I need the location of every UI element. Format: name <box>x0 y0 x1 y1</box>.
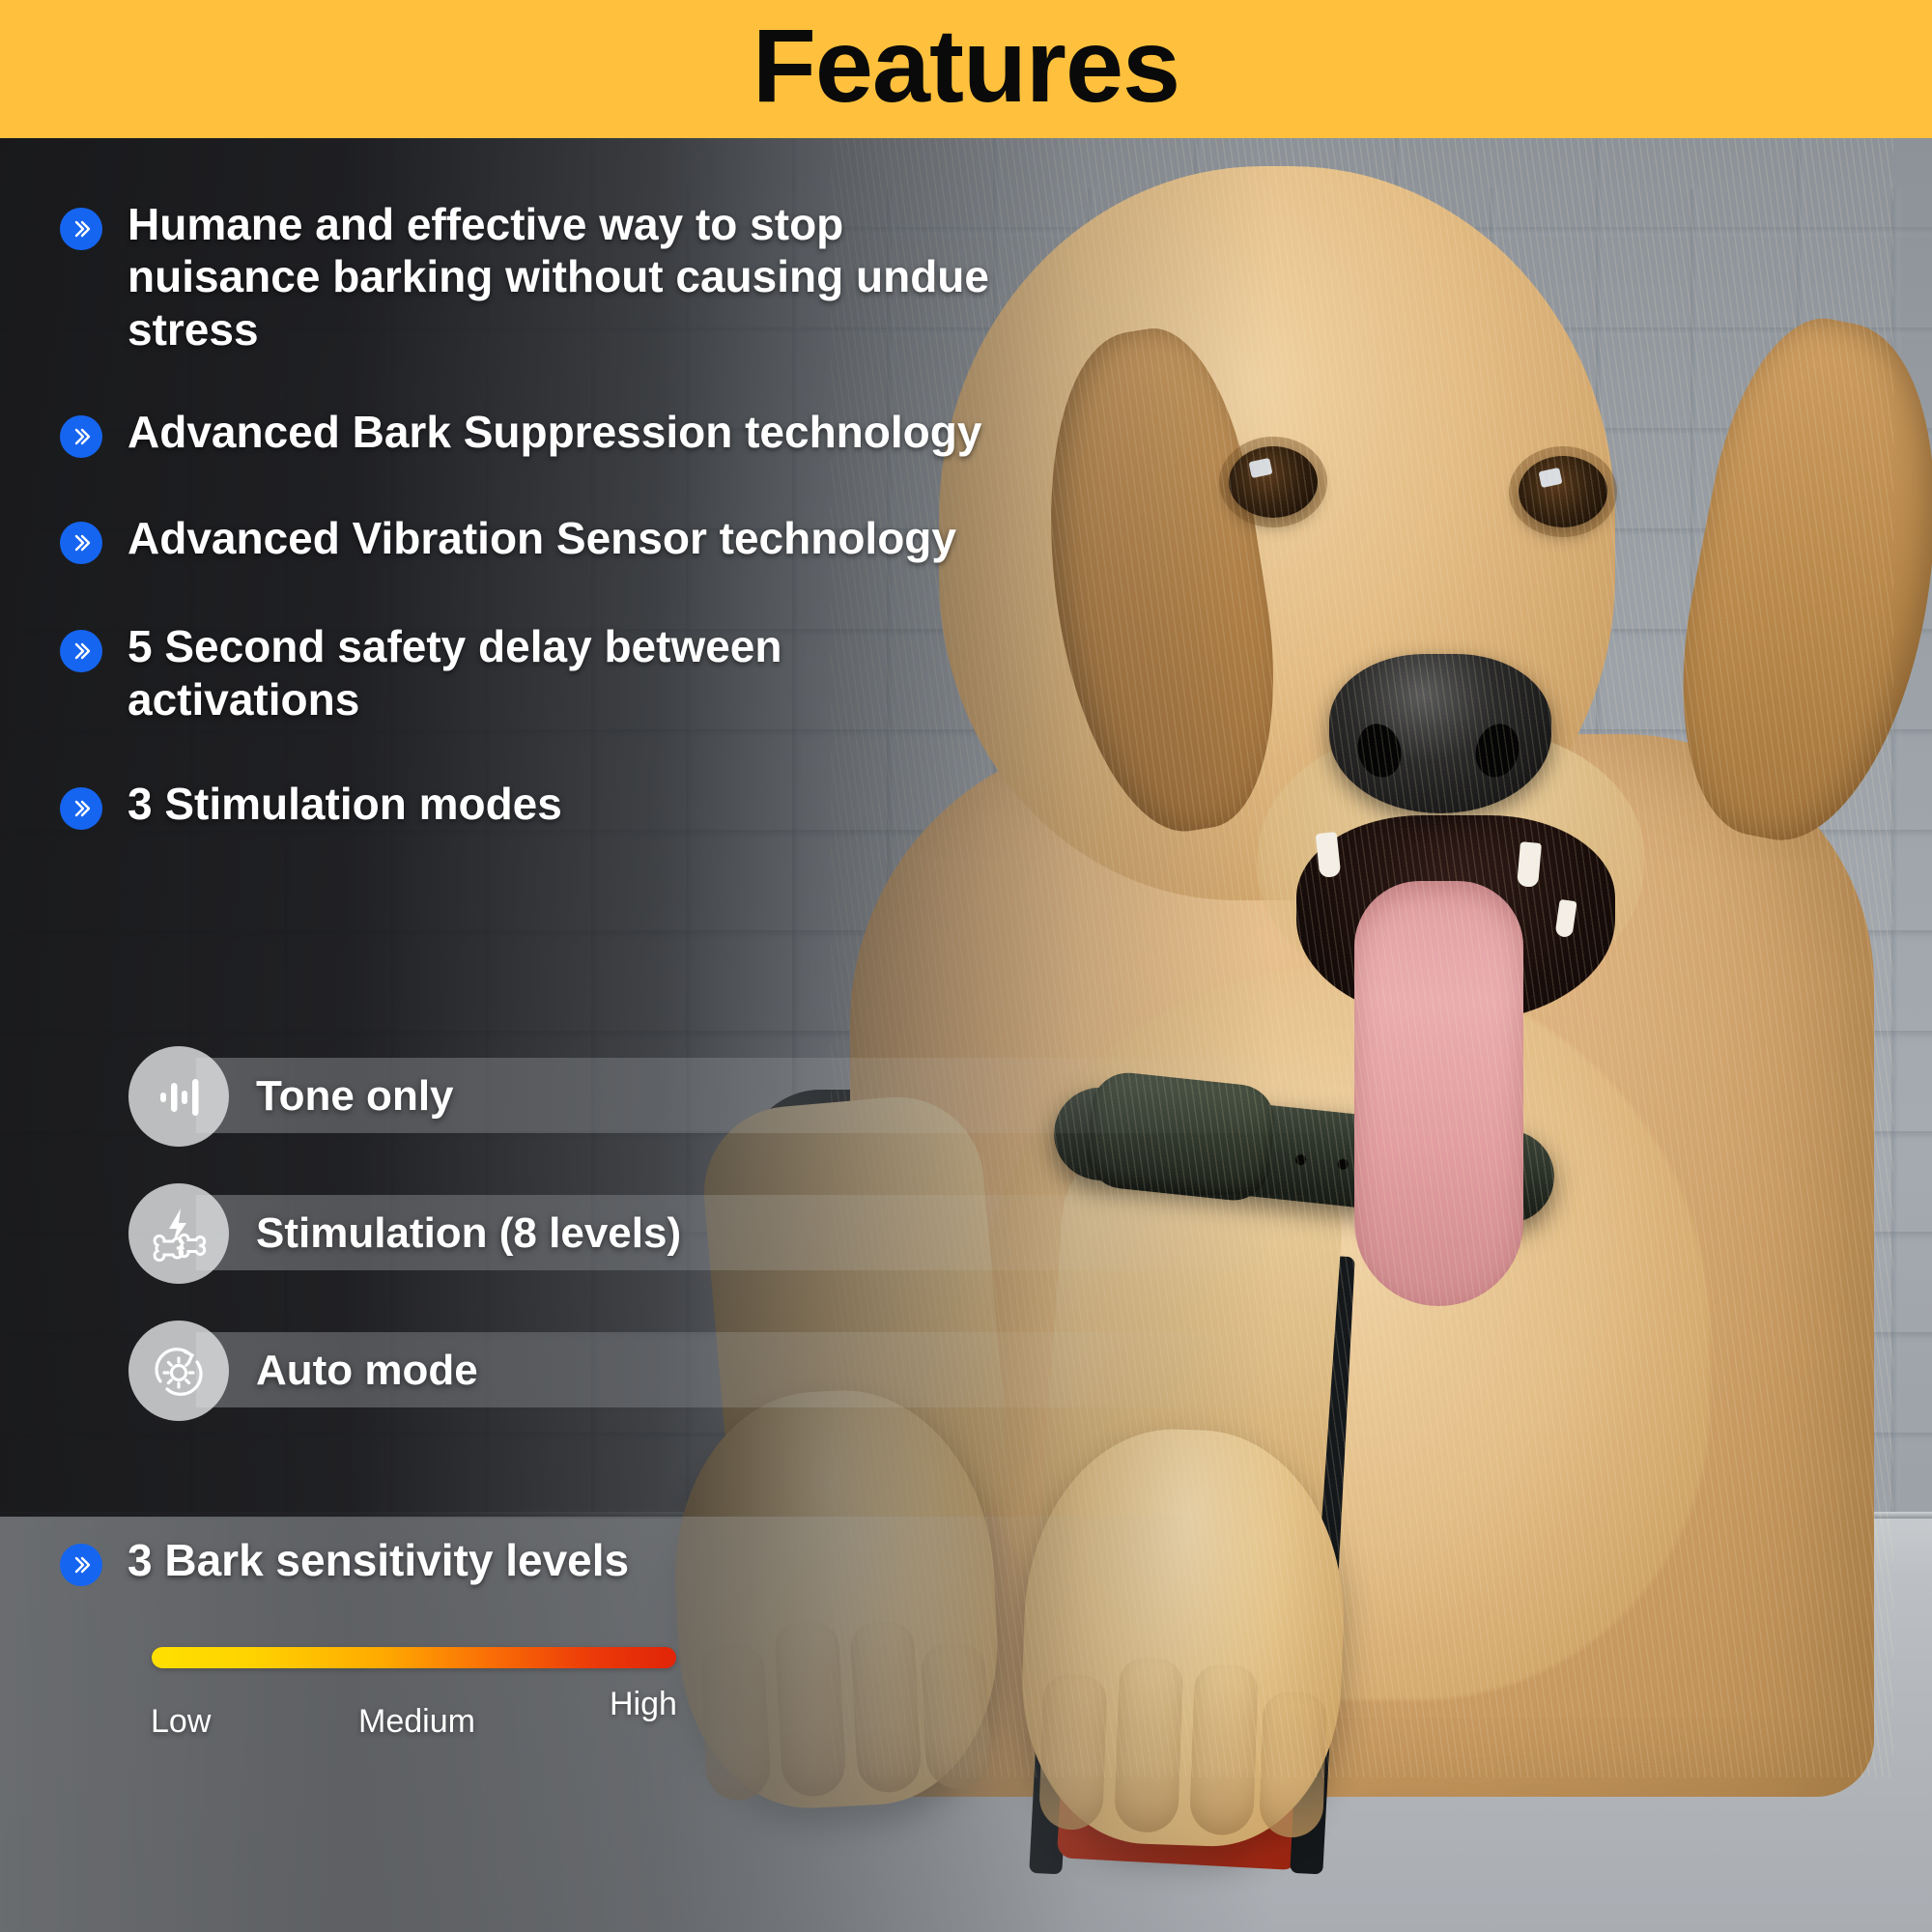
feature-text: 5 Second safety delay between activation… <box>128 620 1026 725</box>
mode-label: Auto mode <box>256 1350 478 1392</box>
sensitivity-gradient-bar <box>152 1647 676 1668</box>
double-chevron-right-icon <box>60 1544 102 1586</box>
gear-refresh-icon <box>128 1321 229 1421</box>
sensitivity-labels: Low Medium High <box>152 1686 770 1753</box>
sensitivity-label-high: High <box>610 1686 677 1723</box>
feature-item: 3 Stimulation modes <box>60 778 1065 830</box>
sound-wave-icon <box>128 1046 229 1147</box>
mode-item-auto: Auto mode <box>128 1321 1384 1421</box>
mode-item-stimulation: Stimulation (8 levels) <box>128 1183 1384 1284</box>
page-header: Features <box>0 0 1932 138</box>
lightning-bones-icon <box>128 1183 229 1284</box>
double-chevron-right-icon <box>60 787 102 830</box>
page-title: Features <box>753 14 1179 118</box>
sensitivity-label-medium: Medium <box>358 1703 475 1741</box>
mode-item-tone-only: Tone only <box>128 1046 1384 1147</box>
feature-text: Advanced Bark Suppression technology <box>128 406 981 458</box>
feature-item: Advanced Vibration Sensor technology <box>60 512 1065 564</box>
feature-item: 3 Bark sensitivity levels <box>60 1534 1065 1586</box>
sensitivity-label-low: Low <box>151 1703 211 1741</box>
feature-infographic: Features Humane and effective way to sto… <box>0 0 1932 1932</box>
feature-text: Humane and effective way to stop nuisanc… <box>128 198 1026 355</box>
double-chevron-right-icon <box>60 208 102 250</box>
sensitivity-scale: Low Medium High <box>152 1647 770 1753</box>
mode-label: Stimulation (8 levels) <box>256 1212 681 1255</box>
double-chevron-right-icon <box>60 415 102 458</box>
feature-list: Humane and effective way to stop nuisanc… <box>60 198 1065 851</box>
double-chevron-right-icon <box>60 630 102 672</box>
feature-text: Advanced Vibration Sensor technology <box>128 512 956 564</box>
feature-item: Advanced Bark Suppression technology <box>60 406 1065 458</box>
feature-text: 3 Bark sensitivity levels <box>128 1534 629 1586</box>
sensitivity-feature-block: 3 Bark sensitivity levels <box>60 1534 1065 1586</box>
double-chevron-right-icon <box>60 522 102 564</box>
feature-item: Humane and effective way to stop nuisanc… <box>60 198 1065 355</box>
mode-label: Tone only <box>256 1075 454 1118</box>
stimulation-mode-list: Tone only Stimulation (8 levels) <box>128 1046 1384 1458</box>
feature-item: 5 Second safety delay between activation… <box>60 620 1065 725</box>
feature-text: 3 Stimulation modes <box>128 778 562 830</box>
